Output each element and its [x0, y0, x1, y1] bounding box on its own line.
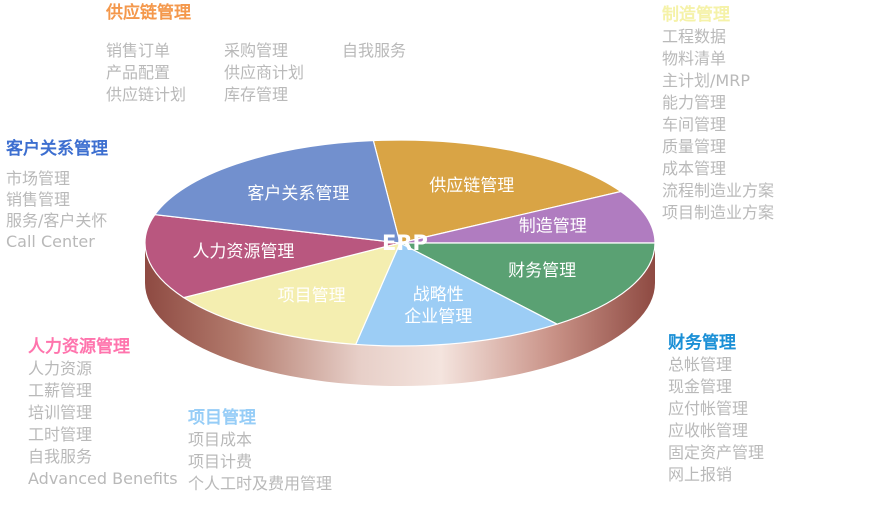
pie-slice-label: 供应链管理: [429, 176, 514, 196]
manufacturing-items: 工程数据 物料清单 主计划/MRP 能力管理 车间管理 质量管理 成本管理 流程…: [662, 26, 774, 224]
pie-slice-label: 人力资源管理: [192, 242, 294, 262]
list-item: Advanced Benefits: [28, 468, 178, 490]
pie-center-label: ERP: [382, 231, 428, 255]
list-item: 自我服务: [28, 446, 178, 468]
list-item: 培训管理: [28, 402, 178, 424]
block-title-crm: 客户关系管理: [6, 138, 108, 160]
list-item: 质量管理: [662, 136, 774, 158]
list-item: 自我服务: [342, 40, 406, 62]
list-item: 工时管理: [28, 424, 178, 446]
list-item: 供应链计划: [106, 84, 186, 106]
list-item: 车间管理: [662, 114, 774, 136]
list-item: 库存管理: [224, 84, 304, 106]
list-item: 项目计费: [188, 451, 332, 473]
list-item: 个人工时及费用管理: [188, 473, 332, 495]
list-item: 市场管理: [6, 168, 108, 189]
list-item: 网上报销: [668, 464, 764, 486]
pie-chart-svg: 供应链管理制造管理财务管理战略性企业管理项目管理人力资源管理客户关系管理ERP: [128, 120, 678, 395]
list-item: 销售管理: [6, 189, 108, 210]
erp-diagram-canvas: 供应链管理 销售订单 产品配置 供应链计划 采购管理 供应商计划 库存管理 自我…: [0, 0, 890, 507]
list-item: 主计划/MRP: [662, 70, 774, 92]
pie-slice-label: 项目管理: [278, 286, 346, 306]
pie-slice-label: 客户关系管理: [247, 184, 349, 204]
list-item: 服务/客户关怀: [6, 210, 108, 231]
supply-chain-column-2: 采购管理 供应商计划 库存管理: [224, 40, 304, 106]
block-supply-chain: 供应链管理 销售订单 产品配置 供应链计划 采购管理 供应商计划 库存管理 自我…: [106, 2, 406, 106]
block-title-supply-chain: 供应链管理: [106, 2, 406, 24]
list-item: 物料清单: [662, 48, 774, 70]
pie-slice-label: 制造管理: [519, 216, 587, 236]
list-item: 能力管理: [662, 92, 774, 114]
finance-items: 总帐管理 现金管理 应付帐管理 应收帐管理 固定资产管理 网上报销: [668, 354, 764, 486]
list-item: 供应商计划: [224, 62, 304, 84]
list-item: 总帐管理: [668, 354, 764, 376]
list-item: 应付帐管理: [668, 398, 764, 420]
supply-chain-columns: 销售订单 产品配置 供应链计划 采购管理 供应商计划 库存管理 自我服务: [106, 40, 406, 106]
list-item: 产品配置: [106, 62, 186, 84]
list-item: 工程数据: [662, 26, 774, 48]
block-title-manufacturing: 制造管理: [662, 4, 774, 26]
list-item: 现金管理: [668, 376, 764, 398]
erp-pie-chart: 供应链管理制造管理财务管理战略性企业管理项目管理人力资源管理客户关系管理ERP: [128, 120, 678, 395]
block-crm: 客户关系管理 市场管理 销售管理 服务/客户关怀 Call Center: [6, 138, 108, 252]
project-items: 项目成本 项目计费 个人工时及费用管理: [188, 429, 332, 495]
list-item: 项目成本: [188, 429, 332, 451]
block-manufacturing: 制造管理 工程数据 物料清单 主计划/MRP 能力管理 车间管理 质量管理 成本…: [662, 4, 774, 224]
list-item: 成本管理: [662, 158, 774, 180]
supply-chain-column-1: 销售订单 产品配置 供应链计划: [106, 40, 186, 106]
list-item: 流程制造业方案: [662, 180, 774, 202]
list-item: 销售订单: [106, 40, 186, 62]
list-item: 采购管理: [224, 40, 304, 62]
list-item: 应收帐管理: [668, 420, 764, 442]
block-finance: 财务管理 总帐管理 现金管理 应付帐管理 应收帐管理 固定资产管理 网上报销: [668, 332, 764, 486]
list-item: Call Center: [6, 231, 108, 252]
crm-items: 市场管理 销售管理 服务/客户关怀 Call Center: [6, 168, 108, 252]
pie-slice-label: 财务管理: [508, 261, 576, 281]
block-project: 项目管理 项目成本 项目计费 个人工时及费用管理: [188, 407, 332, 495]
list-item: 固定资产管理: [668, 442, 764, 464]
block-title-finance: 财务管理: [668, 332, 764, 354]
block-title-project: 项目管理: [188, 407, 332, 429]
supply-chain-column-3: 自我服务: [342, 40, 406, 106]
list-item: 项目制造业方案: [662, 202, 774, 224]
